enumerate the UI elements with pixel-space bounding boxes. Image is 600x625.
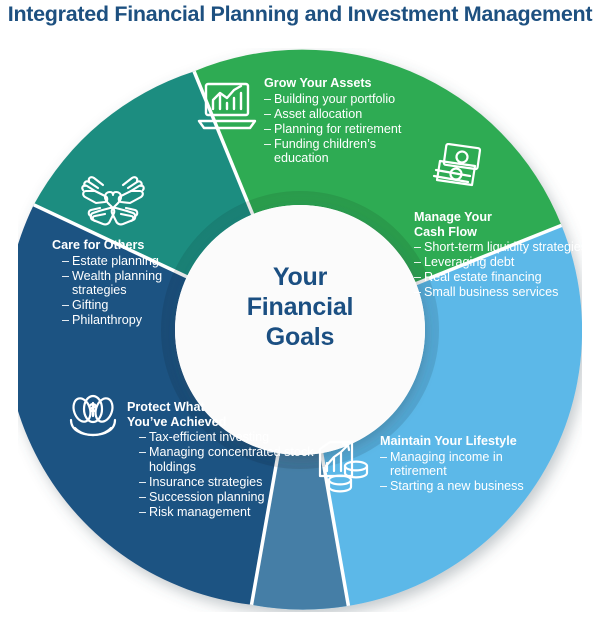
page-title: Integrated Financial Planning and Invest… (0, 2, 600, 27)
segment-text-protect: Protect What You’ve Achieved –Tax-effici… (127, 400, 317, 520)
chart-coins-icon (314, 440, 372, 496)
segment-text-grow-assets: Grow Your Assets –Building your portfoli… (264, 76, 434, 166)
list-item: –Estate planning (62, 254, 212, 269)
hands-heart-icon (77, 168, 149, 232)
list-item: –Funding children’s education (264, 137, 434, 166)
segment-text-cash-flow: Manage Your Cash Flow –Short-term liquid… (414, 210, 592, 300)
list-item: –Asset allocation (264, 107, 434, 122)
center-line-2: Financial (228, 292, 372, 322)
list-item: –Tax-efficient investing (139, 430, 317, 445)
center-hub-label: Your Financial Goals (228, 262, 372, 352)
list-item: –Real estate financing (414, 270, 592, 285)
list-item: –Managing concentrated stock holdings (139, 445, 317, 474)
list-item: –Managing income in retirement (380, 450, 540, 479)
laptop-chart-icon (196, 78, 258, 132)
center-line-3: Goals (228, 322, 372, 352)
list-item: –Philanthropy (62, 313, 212, 328)
segment-items: –Building your portfolio –Asset allocati… (264, 92, 434, 166)
segment-heading: Maintain Your Lifestyle (380, 434, 540, 449)
segment-heading: Grow Your Assets (264, 76, 434, 91)
list-item: –Short-term liquidity strategies (414, 240, 592, 255)
list-item: –Succession planning (139, 490, 317, 505)
list-item: –Leveraging debt (414, 255, 592, 270)
cash-bills-icon (428, 143, 484, 195)
segment-items: –Short-term liquidity strategies –Levera… (414, 240, 592, 300)
segment-heading: Manage Your Cash Flow (414, 210, 592, 239)
segment-heading: Protect What You’ve Achieved (127, 400, 317, 429)
infographic-page: Integrated Financial Planning and Invest… (0, 0, 600, 625)
list-item: –Building your portfolio (264, 92, 434, 107)
list-item: –Insurance strategies (139, 475, 317, 490)
segment-text-care: Care for Others –Estate planning –Wealth… (52, 238, 212, 328)
list-item: –Planning for retirement (264, 122, 434, 137)
segment-items: –Managing income in retirement –Starting… (380, 450, 540, 494)
list-item: –Risk management (139, 505, 317, 520)
list-item: –Small business services (414, 285, 592, 300)
center-line-1: Your (228, 262, 372, 292)
segment-heading: Care for Others (52, 238, 212, 253)
segment-items: –Tax-efficient investing –Managing conce… (127, 430, 317, 520)
list-item: –Wealth planning strategies (62, 269, 212, 298)
list-item: –Starting a new business (380, 479, 540, 494)
list-item: –Gifting (62, 298, 212, 313)
segment-text-lifestyle: Maintain Your Lifestyle –Managing income… (380, 434, 540, 494)
nest-egg-icon (64, 394, 122, 442)
segment-items: –Estate planning –Wealth planning strate… (52, 254, 212, 328)
